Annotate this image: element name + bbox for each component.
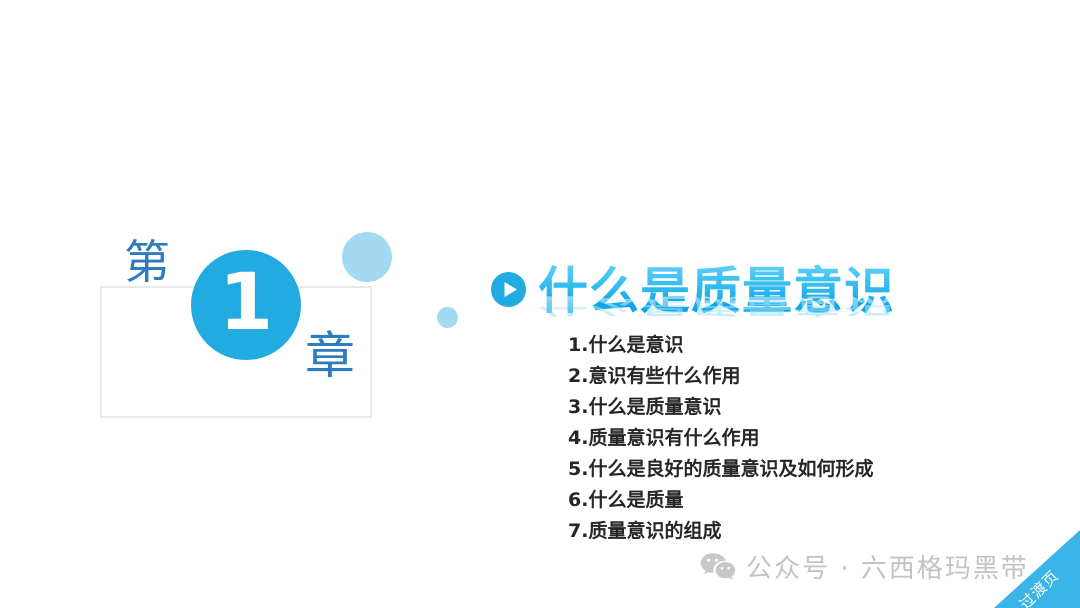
chapter-suffix-label: 章 — [305, 331, 355, 381]
wechat-icon — [700, 552, 736, 582]
chapter-prefix-label: 第 — [124, 239, 170, 285]
decorative-circle-large — [342, 232, 392, 282]
decorative-circle-small — [437, 307, 458, 328]
list-item: 5.什么是良好的质量意识及如何形成 — [568, 454, 988, 485]
presentation-slide: 第 1 章 什么是质量意识 什么是质量意识 1.什么是意识 2.意识有些什么作用… — [0, 0, 1080, 608]
list-item: 7.质量意识的组成 — [568, 516, 988, 547]
list-item: 6.什么是质量 — [568, 485, 988, 516]
chapter-number-text: 1 — [191, 250, 301, 360]
chapter-badge-group: 第 1 章 — [0, 0, 520, 440]
list-item: 3.什么是质量意识 — [568, 392, 988, 423]
chapter-number-circle: 1 — [191, 250, 301, 360]
list-item: 2.意识有些什么作用 — [568, 361, 988, 392]
play-circle-icon — [491, 272, 526, 307]
footer-watermark: 公众号 · 六西格玛黑带 — [700, 548, 1029, 585]
slide-title: 什么是质量意识 — [538, 262, 895, 320]
list-item: 1.什么是意识 — [568, 330, 988, 361]
watermark-label: 公众号 · 六西格玛黑带 — [746, 548, 1029, 585]
corner-ribbon: 过渡页 — [994, 530, 1080, 608]
agenda-list: 1.什么是意识 2.意识有些什么作用 3.什么是质量意识 4.质量意识有什么作用… — [568, 330, 988, 547]
list-item: 4.质量意识有什么作用 — [568, 423, 988, 454]
slide-title-group: 什么是质量意识 什么是质量意识 — [538, 262, 895, 324]
